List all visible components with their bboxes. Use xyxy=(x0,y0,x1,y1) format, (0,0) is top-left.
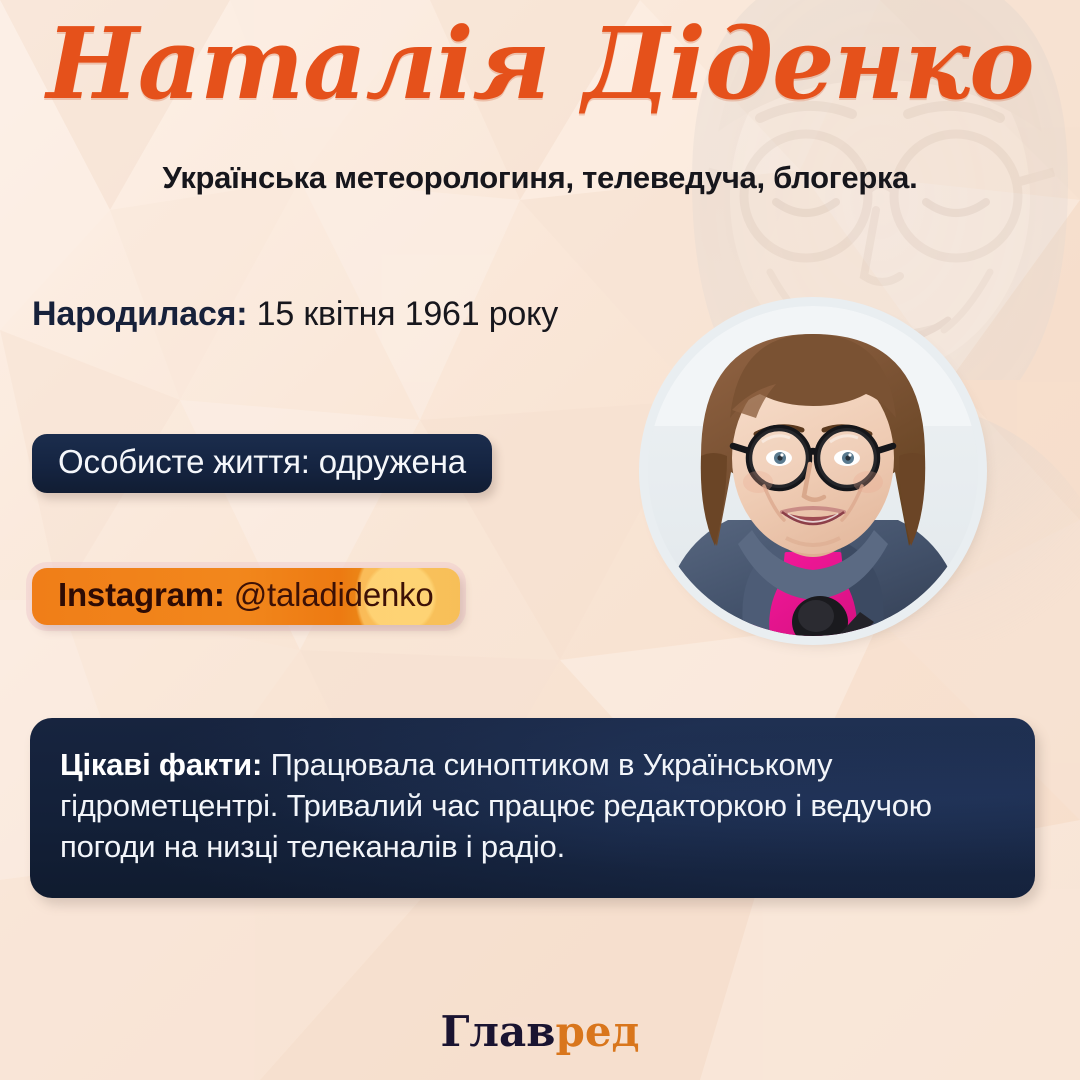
personal-life-text: Особисте життя: одружена xyxy=(58,443,466,480)
facts-label: Цікаві факти: xyxy=(60,747,262,782)
portrait-illustration xyxy=(648,306,978,636)
page-subtitle: Українська метеорологиня, телеведуча, бл… xyxy=(0,160,1080,196)
born-label: Народилася: xyxy=(32,295,247,333)
logo-part-orange: ред xyxy=(555,1007,639,1056)
born-value: 15 квітня 1961 року xyxy=(257,295,558,333)
logo-part-dark: Глав xyxy=(440,1007,555,1056)
portrait-avatar xyxy=(648,306,978,636)
interesting-facts-box: Цікаві факти: Працювала синоптиком в Укр… xyxy=(30,718,1035,898)
born-line: Народилася: 15 квітня 1961 року xyxy=(32,295,558,334)
personal-life-pill: Особисте життя: одружена xyxy=(32,434,492,493)
infographic-card: Наталія Діденко Українська метеорологиня… xyxy=(0,0,1080,1080)
instagram-pill[interactable]: Instagram: @taladidenko xyxy=(32,568,460,625)
site-logo[interactable]: Главред xyxy=(0,1007,1080,1056)
instagram-label: Instagram: xyxy=(58,576,225,613)
page-title: Наталія Діденко xyxy=(0,14,1080,117)
instagram-handle[interactable]: @taladidenko xyxy=(234,576,434,613)
